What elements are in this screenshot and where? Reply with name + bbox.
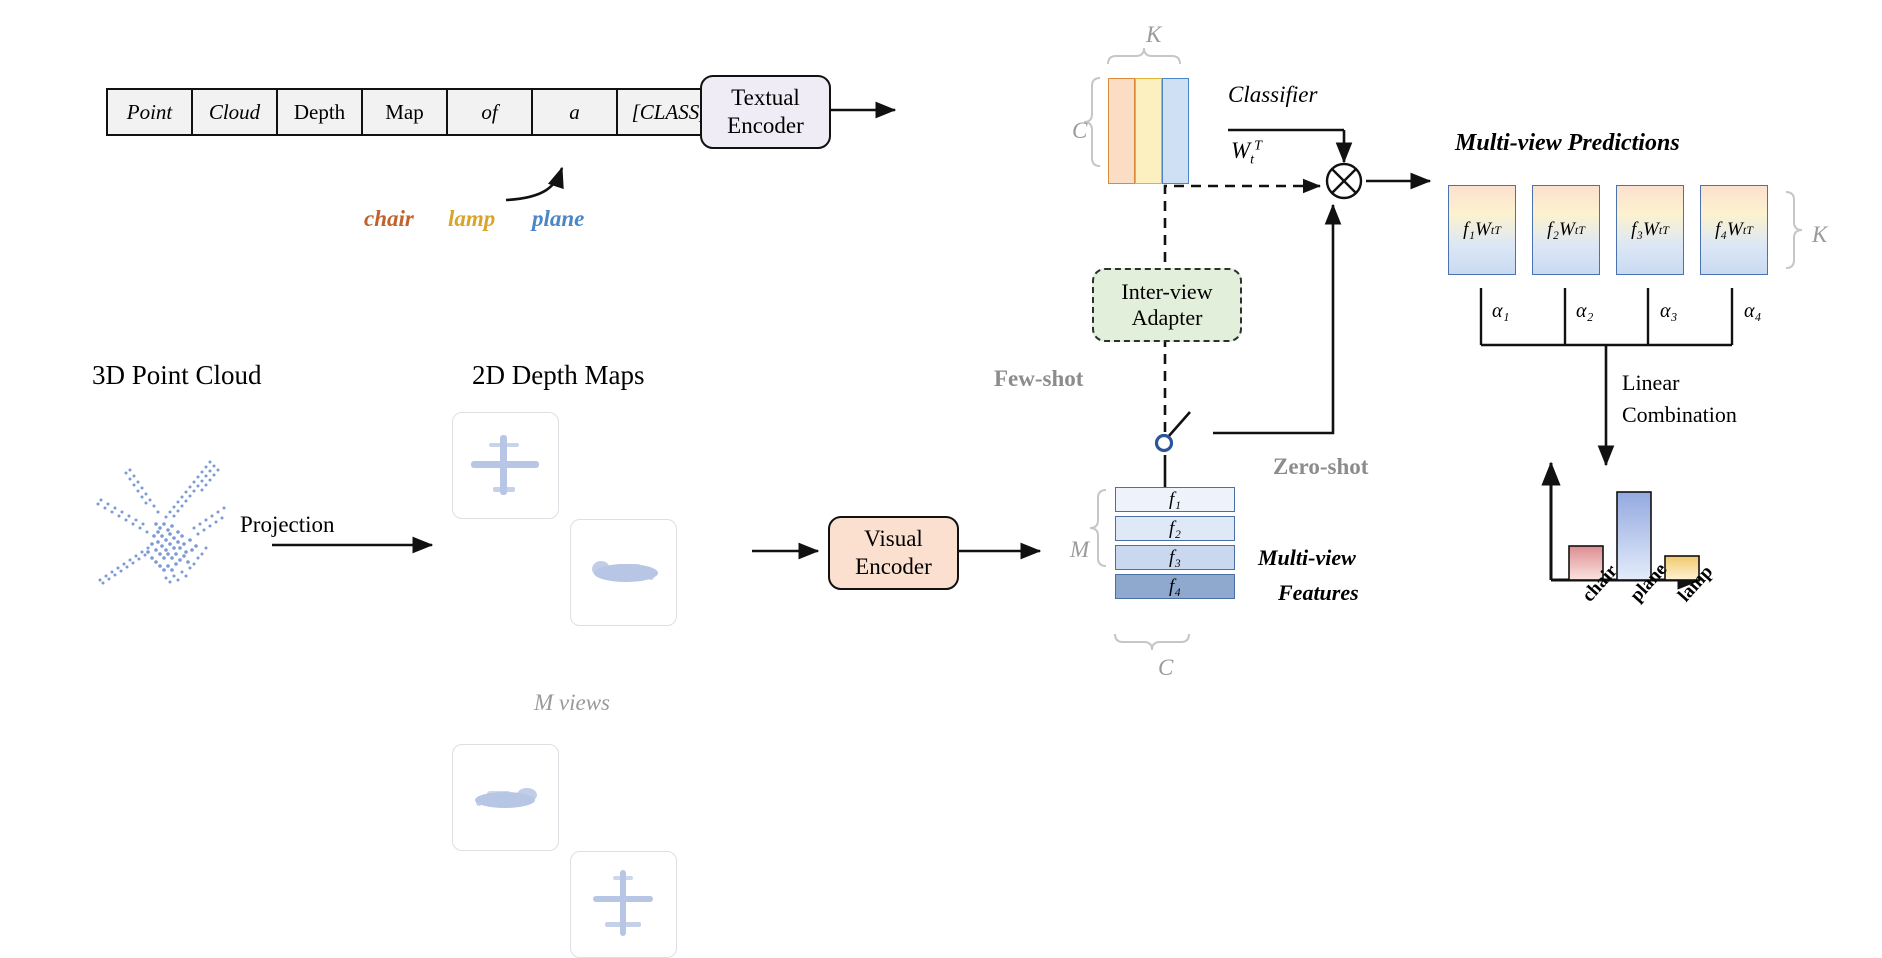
prediction-3-w: W bbox=[1643, 219, 1659, 241]
class-word-lamp: lamp bbox=[448, 206, 495, 232]
prompt-token-0: Point bbox=[108, 90, 193, 134]
prompt-token-4: of bbox=[448, 90, 533, 134]
depth-tile-3-visual bbox=[453, 745, 558, 850]
bar-chart-bars bbox=[1551, 480, 1711, 582]
prediction-2-w: W bbox=[1559, 219, 1575, 241]
textual-encoder-line2: Encoder bbox=[727, 112, 804, 140]
linear-combination-line1: Linear bbox=[1622, 370, 1679, 396]
prediction-4-w: W bbox=[1727, 219, 1743, 241]
alpha-label-4: α₄ bbox=[1744, 300, 1761, 323]
multi-view-features-stack: f₁ f₂ f₃ f₄ bbox=[1115, 487, 1235, 599]
features-brace-left-label: M bbox=[1070, 537, 1089, 563]
depth-tile-2-visual bbox=[571, 520, 676, 625]
feature-row-1: f₁ bbox=[1115, 487, 1235, 512]
weight-symbol: W bbox=[1231, 138, 1250, 163]
feature-row-4: f₄ bbox=[1115, 574, 1235, 599]
depth-tile-1 bbox=[452, 412, 559, 519]
predictions-title: Multi-view Predictions bbox=[1455, 130, 1680, 157]
prediction-3-f: f₃ bbox=[1631, 219, 1643, 241]
bar-label-chair: chair bbox=[1578, 592, 1620, 614]
depth-tile-4 bbox=[570, 851, 677, 958]
prediction-3-sup: T bbox=[1662, 223, 1669, 238]
class-word-chair: chair bbox=[364, 206, 414, 232]
prediction-box-4: f₄WtT bbox=[1700, 185, 1768, 275]
prediction-1-w: W bbox=[1475, 219, 1491, 241]
adapter-line1: Inter-view bbox=[1121, 279, 1212, 305]
linear-combination-line2: Combination bbox=[1622, 402, 1737, 428]
depth-tile-1-visual bbox=[453, 413, 558, 518]
features-brace-bottom-label: C bbox=[1158, 655, 1173, 681]
features-caption-line1: Multi-view bbox=[1258, 545, 1356, 571]
prompt-token-3: Map bbox=[363, 90, 448, 134]
few-shot-label: Few-shot bbox=[994, 366, 1083, 392]
alpha-label-3: α₃ bbox=[1660, 300, 1677, 323]
classifier-column-lamp bbox=[1135, 78, 1162, 184]
feature-row-2: f₂ bbox=[1115, 516, 1235, 541]
classifier-matrix bbox=[1108, 78, 1189, 184]
classifier-brace-left-label: C bbox=[1072, 118, 1087, 144]
prediction-4-f: f₄ bbox=[1715, 219, 1727, 241]
class-word-plane: plane bbox=[532, 206, 584, 232]
weight-subscript: t bbox=[1250, 153, 1254, 168]
prediction-2-f: f₂ bbox=[1547, 219, 1559, 241]
features-caption-line2: Features bbox=[1278, 580, 1359, 606]
classifier-label: Classifier bbox=[1228, 82, 1317, 108]
depth-tile-2 bbox=[570, 519, 677, 626]
alpha-label-2: α₂ bbox=[1576, 300, 1593, 323]
prompt-token-1: Cloud bbox=[193, 90, 278, 134]
zero-shot-label: Zero-shot bbox=[1273, 454, 1368, 480]
prediction-1-sup: T bbox=[1494, 223, 1501, 238]
prediction-bar-chart bbox=[1551, 480, 1701, 580]
depth-tile-3 bbox=[452, 744, 559, 851]
prediction-box-3: f₃WtT bbox=[1616, 185, 1684, 275]
bar-label-lamp: lamp bbox=[1674, 592, 1715, 614]
classifier-weight-label: WtT bbox=[1231, 138, 1262, 169]
inter-view-adapter-box: Inter-view Adapter bbox=[1092, 268, 1242, 342]
prediction-box-2: f₂WtT bbox=[1532, 185, 1600, 275]
classifier-brace-top-label: K bbox=[1146, 22, 1161, 48]
visual-encoder-box: Visual Encoder bbox=[828, 516, 959, 590]
textual-encoder-box: Textual Encoder bbox=[700, 75, 831, 149]
visual-encoder-line2: Encoder bbox=[855, 553, 932, 581]
point-cloud-title: 3D Point Cloud bbox=[92, 360, 262, 391]
prediction-1-f: f₁ bbox=[1463, 219, 1475, 241]
prediction-box-1: f₁WtT bbox=[1448, 185, 1516, 275]
depth-maps-title: 2D Depth Maps bbox=[472, 360, 644, 391]
prompt-token-2: Depth bbox=[278, 90, 363, 134]
prediction-4-sup: T bbox=[1746, 223, 1753, 238]
feature-row-3: f₃ bbox=[1115, 545, 1235, 570]
classifier-column-plane bbox=[1162, 78, 1189, 184]
prompt-template-table: Point Cloud Depth Map of a [CLASS] bbox=[106, 88, 723, 136]
predictions-brace-label: K bbox=[1812, 222, 1827, 248]
projection-label: Projection bbox=[240, 512, 335, 538]
classifier-column-chair bbox=[1108, 78, 1135, 184]
visual-encoder-line1: Visual bbox=[864, 525, 923, 553]
weight-superscript: T bbox=[1254, 138, 1262, 153]
bar-plane bbox=[1617, 492, 1651, 580]
prompt-token-5: a bbox=[533, 90, 618, 134]
prediction-2-sup: T bbox=[1578, 223, 1585, 238]
textual-encoder-line1: Textual bbox=[731, 84, 800, 112]
depth-tile-4-visual bbox=[571, 852, 676, 957]
alpha-label-1: α₁ bbox=[1492, 300, 1509, 323]
bar-label-plane: plane bbox=[1626, 592, 1670, 614]
m-views-caption: M views bbox=[534, 690, 610, 716]
adapter-line2: Adapter bbox=[1132, 305, 1203, 331]
